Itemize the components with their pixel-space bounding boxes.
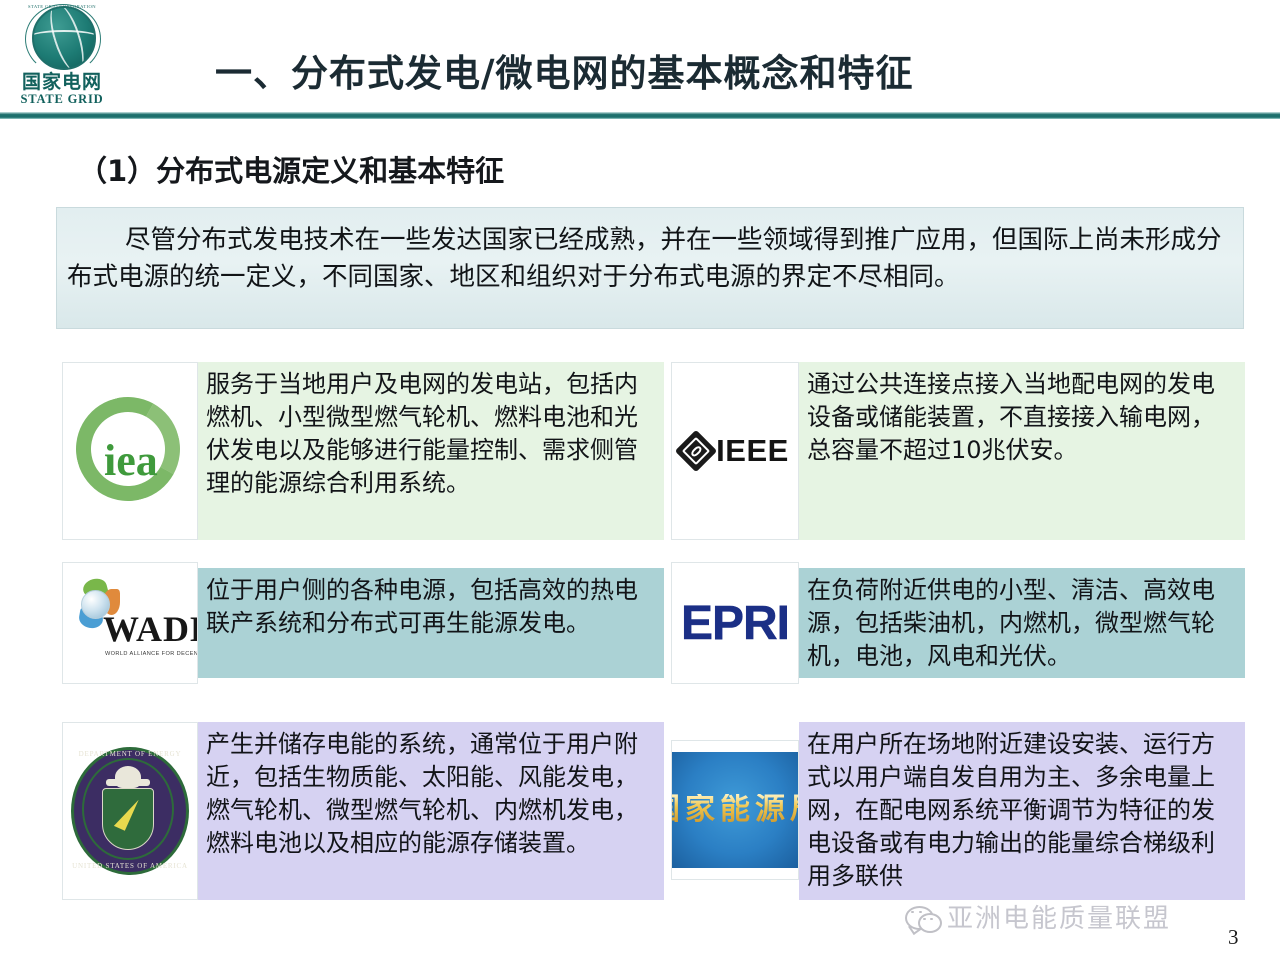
iea-wordmark: iea (104, 439, 158, 483)
nea-char: 家 (685, 794, 715, 826)
page-number: 3 (1228, 925, 1239, 950)
doe-seal-logo: DEPARTMENT OF ENERGY UNITED STATES OF AM… (62, 722, 198, 900)
nea-logo-icon: 国 家 能 源 局 (671, 752, 799, 868)
state-grid-name-en: STATE GRID (21, 92, 104, 106)
state-grid-emblem-icon: STATE GRID CORPORATION OF CHINA (25, 6, 99, 70)
ieee-definition-text: 通过公共连接点接入当地配电网的发电设备或储能装置，不直接接入输电网，总容量不超过… (799, 362, 1245, 540)
ieee-diamond-icon (675, 430, 717, 472)
watermark-text: 亚洲电能质量联盟 (947, 898, 1171, 935)
nea-char: 局 (790, 794, 799, 826)
section-subtitle: （1）分布式电源定义和基本特征 (78, 148, 504, 190)
wechat-icon (905, 904, 939, 930)
doe-seal-bottom-text: UNITED STATES OF AMERICA (69, 862, 191, 870)
epri-wordmark: EPRI (681, 596, 789, 651)
doe-definition-text: 产生并储存电能的系统，通常位于用户附近，包括生物质能、太阳能、风能发电，燃气轮机… (198, 722, 664, 900)
iea-logo: iea (62, 362, 198, 540)
nea-char: 源 (755, 794, 785, 826)
epri-logo: EPRI (671, 562, 799, 684)
slide-canvas: STATE GRID CORPORATION OF CHINA 国家电网 STA… (0, 0, 1280, 960)
header-divider (0, 112, 1280, 119)
state-grid-logo: STATE GRID CORPORATION OF CHINA 国家电网 STA… (12, 6, 112, 110)
iea-definition-text: 服务于当地用户及电网的发电站，包括内燃机、小型微型燃气轮机、燃料电池和光伏发电以… (198, 362, 664, 540)
wade-wordmark: WADE (103, 611, 198, 647)
intro-text: 尽管分布式发电技术在一些发达国家已经成熟，并在一些领域得到推广应用，但国际上尚未… (67, 222, 1229, 296)
wade-definition-text: 位于用户侧的各种电源，包括高效的热电联产系统和分布式可再生能源发电。 (198, 568, 664, 678)
ieee-wordmark: IEEE (716, 433, 789, 469)
wade-logo: WADE WORLD ALLIANCE FOR DECENTRALIZED EN… (62, 562, 198, 684)
nea-definition-text: 在用户所在场地附近建设安装、运行方式以用户端自发自用为主、多余电量上网，在配电网… (799, 722, 1245, 900)
ieee-logo: IEEE (671, 362, 799, 540)
doe-seal-icon: DEPARTMENT OF ENERGY UNITED STATES OF AM… (69, 744, 191, 878)
wade-tagline: WORLD ALLIANCE FOR DECENTRALIZED ENERGY (105, 651, 198, 657)
slide-header: STATE GRID CORPORATION OF CHINA 国家电网 STA… (0, 0, 1280, 118)
nea-logo: 国 家 能 源 局 (671, 740, 799, 880)
state-grid-name-cn: 国家电网 (22, 72, 102, 92)
doe-seal-top-text: DEPARTMENT OF ENERGY (69, 750, 191, 758)
page-title: 一、分布式发电/微电网的基本概念和特征 (215, 43, 1135, 97)
epri-definition-text: 在负荷附近供电的小型、清洁、高效电源，包括柴油机，内燃机，微型燃气轮机，电池，风… (799, 568, 1245, 678)
nea-char: 能 (720, 794, 750, 826)
watermark: 亚洲电能质量联盟 (905, 898, 1171, 935)
intro-callout: 尽管分布式发电技术在一些发达国家已经成熟，并在一些领域得到推广应用，但国际上尚未… (56, 207, 1244, 329)
nea-char: 国 (671, 794, 680, 826)
